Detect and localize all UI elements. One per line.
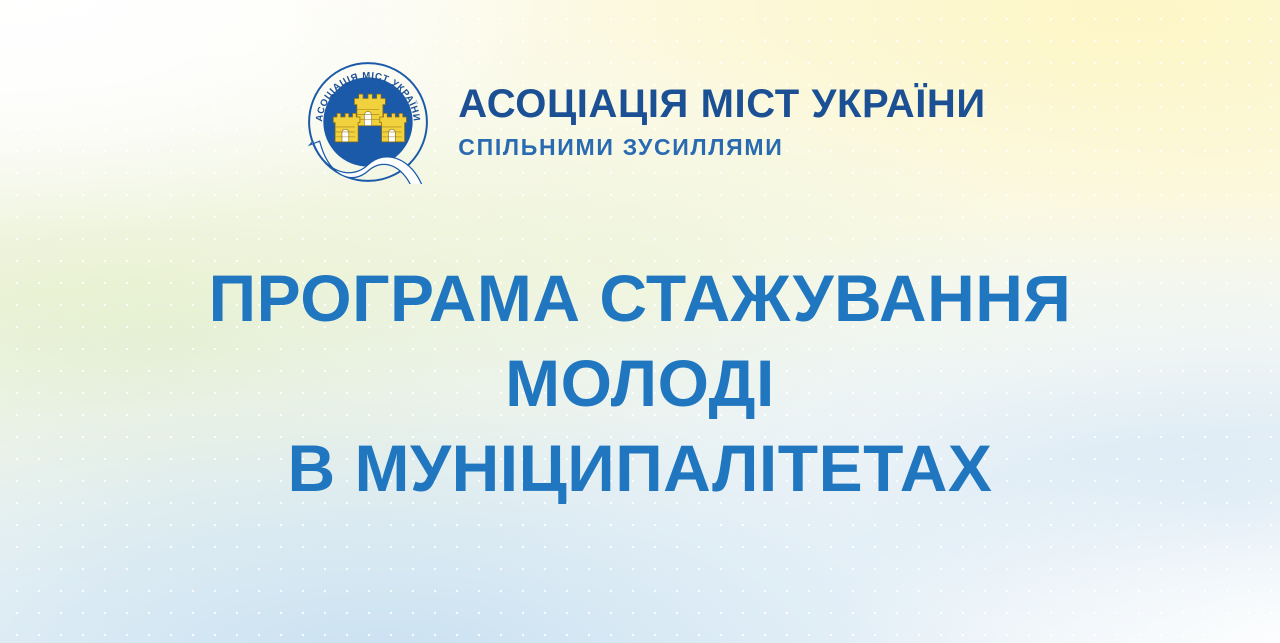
association-of-ukrainian-cities-emblem-icon: АСОЦІАЦІЯ МІСТ УКРАЇНИ [306,60,430,184]
organization-lockup: АСОЦІАЦІЯ МІСТ УКРАЇНИ [306,60,985,184]
page-title-line-1: ПРОГРАМА СТАЖУВАННЯ [0,256,1280,341]
organization-name: АСОЦІАЦІЯ МІСТ УКРАЇНИ [458,83,985,126]
promo-banner: АСОЦІАЦІЯ МІСТ УКРАЇНИ [0,0,1280,643]
emblem-tower-left [334,113,361,142]
banner-content: АСОЦІАЦІЯ МІСТ УКРАЇНИ [0,0,1280,643]
page-title: ПРОГРАМА СТАЖУВАННЯ МОЛОДІ В МУНІЦИПАЛІТ… [0,256,1280,511]
page-title-line-2: МОЛОДІ [0,341,1280,426]
organization-tagline: СПІЛЬНИМИ ЗУСИЛЛЯМИ [458,135,985,160]
page-title-line-3: В МУНІЦИПАЛІТЕТАХ [0,426,1280,511]
organization-text-block: АСОЦІАЦІЯ МІСТ УКРАЇНИ СПІЛЬНИМИ ЗУСИЛЛЯ… [458,83,985,160]
